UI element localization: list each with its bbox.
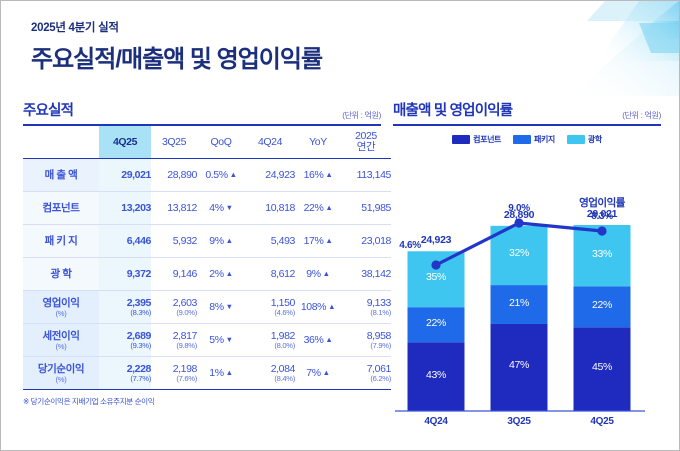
key-results-panel: 주요실적 (단위 : 억원) 4Q25 3Q25 QoQ 4Q24 YoY 20… <box>23 99 381 407</box>
table-row: 당기순이익(%)2,228(7.7%)2,198(7.6%)1%▲2,084(8… <box>23 356 391 389</box>
table-body: 매 출 액29,02128,8900.5%▲24,92316%▲113,145컴… <box>23 158 391 389</box>
arrow-up-icon: ▲ <box>226 269 233 278</box>
sub-value: (9.3%) <box>99 341 151 350</box>
sub-value: (9.8%) <box>151 341 197 350</box>
table-row: 매 출 액29,02128,8900.5%▲24,92316%▲113,145 <box>23 158 391 191</box>
sub-value: (7.9%) <box>341 341 391 350</box>
bar-segment-label: 47% <box>486 359 552 371</box>
cell-year: 113,145 <box>341 158 391 191</box>
bar-segment-label: 43% <box>403 369 469 381</box>
legend-swatch-icon <box>567 135 585 144</box>
header-kicker: 2025년 4분기 실적 <box>31 19 322 35</box>
cell-4q24: 2,084(8.4%) <box>245 356 295 389</box>
cell-qoq: 5%▼ <box>197 323 245 356</box>
bar-segment-label: 21% <box>486 297 552 309</box>
col-header-year-line2: 연간 <box>357 141 376 153</box>
line-point-label: 4.6% <box>384 240 436 251</box>
line-data-point <box>597 226 606 235</box>
bar-segment-label: 32% <box>486 247 552 259</box>
left-panel-unit: (단위 : 억원) <box>342 110 381 121</box>
cell-yoy: 16%▲ <box>295 158 341 191</box>
slide-root: 2025년 4분기 실적 주요실적/매출액 및 영업이익률 주요실적 (단위 :… <box>0 0 680 451</box>
arrow-up-icon: ▲ <box>325 236 332 245</box>
bar-segment-label: 22% <box>403 317 469 329</box>
cell-yoy: 108%▲ <box>295 290 341 323</box>
legend-label: 패키지 <box>534 134 555 145</box>
category-label: 4Q24 <box>403 416 469 427</box>
cell-yoy: 9%▲ <box>295 257 341 290</box>
cell-year: 8,958(7.9%) <box>341 323 391 356</box>
cell-4q25: 13,203 <box>99 191 151 224</box>
cell-year: 51,985 <box>341 191 391 224</box>
cell-yoy: 36%▲ <box>295 323 341 356</box>
cell-3q25: 28,890 <box>151 158 197 191</box>
cell-4q25: 6,446 <box>99 224 151 257</box>
table-header-row: 4Q25 3Q25 QoQ 4Q24 YoY 2025 연간 <box>23 126 391 158</box>
cell-4q24: 1,150(4.6%) <box>245 290 295 323</box>
cell-4q25: 2,228(7.7%) <box>99 356 151 389</box>
col-header-4q24[interactable]: 4Q24 <box>245 126 295 158</box>
table-row: 컴포넌트13,20313,8124%▼10,81822%▲51,985 <box>23 191 391 224</box>
cell-4q24: 5,493 <box>245 224 295 257</box>
arrow-up-icon: ▲ <box>328 302 335 311</box>
cell-4q25: 2,689(9.3%) <box>99 323 151 356</box>
table-header: 4Q25 3Q25 QoQ 4Q24 YoY 2025 연간 <box>23 126 391 158</box>
right-panel-title: 매출액 및 영업이익률 <box>393 99 512 120</box>
sub-value: (8.3%) <box>99 308 151 317</box>
legend-label: 컴포넌트 <box>473 134 501 145</box>
left-panel-title: 주요실적 <box>23 99 73 120</box>
sub-value: (4.6%) <box>245 308 295 317</box>
sub-value: (9.0%) <box>151 308 197 317</box>
cell-year: 7,061(6.2%) <box>341 356 391 389</box>
cell-qoq: 8%▼ <box>197 290 245 323</box>
operating-margin-caption: 영업이익률 <box>565 197 639 210</box>
legend-item[interactable]: 패키지 <box>513 134 555 145</box>
arrow-up-icon: ▲ <box>323 368 330 377</box>
cell-qoq: 4%▼ <box>197 191 245 224</box>
financial-table: 4Q25 3Q25 QoQ 4Q24 YoY 2025 연간 매 출 액29,0… <box>23 126 391 390</box>
cell-4q24: 1,982(8.0%) <box>245 323 295 356</box>
left-panel-head: 주요실적 (단위 : 억원) <box>23 99 381 123</box>
cell-yoy: 17%▲ <box>295 224 341 257</box>
bar-segment-label: 33% <box>569 248 635 260</box>
arrow-up-icon: ▲ <box>325 203 332 212</box>
arrow-up-icon: ▲ <box>323 269 330 278</box>
cell-4q25: 9,372 <box>99 257 151 290</box>
row-label: 세전이익(%) <box>23 323 99 356</box>
cell-year: 38,142 <box>341 257 391 290</box>
table-row: 패 키 지6,4465,9329%▲5,49317%▲23,018 <box>23 224 391 257</box>
cell-3q25: 2,603(9.0%) <box>151 290 197 323</box>
sub-value: (7.6%) <box>151 374 197 383</box>
row-label: 컴포넌트 <box>23 191 99 224</box>
legend-swatch-icon <box>452 135 470 144</box>
chart-legend: 컴포넌트패키지광학 <box>393 134 661 145</box>
cell-3q25: 5,932 <box>151 224 197 257</box>
arrow-up-icon: ▲ <box>325 170 332 179</box>
line-data-point <box>431 260 440 269</box>
cell-qoq: 0.5%▲ <box>197 158 245 191</box>
cell-3q25: 2,817(9.8%) <box>151 323 197 356</box>
cell-3q25: 13,812 <box>151 191 197 224</box>
cell-yoy: 22%▲ <box>295 191 341 224</box>
corner-decoration <box>509 1 679 96</box>
right-panel-divider <box>393 124 661 126</box>
arrow-down-icon: ▼ <box>226 302 233 311</box>
col-header-qoq[interactable]: QoQ <box>197 126 245 158</box>
page-title: 주요실적/매출액 및 영업이익률 <box>31 39 322 74</box>
legend-item[interactable]: 광학 <box>567 134 602 145</box>
cell-3q25: 9,146 <box>151 257 197 290</box>
table-row: 영업이익(%)2,395(8.3%)2,603(9.0%)8%▼1,150(4.… <box>23 290 391 323</box>
cell-4q24: 8,612 <box>245 257 295 290</box>
sub-value: (%) <box>23 375 99 384</box>
arrow-up-icon: ▲ <box>226 236 233 245</box>
cell-qoq: 9%▲ <box>197 224 245 257</box>
sub-value: (8.4%) <box>245 374 295 383</box>
category-label: 3Q25 <box>486 416 552 427</box>
legend-label: 광학 <box>588 134 602 145</box>
line-point-label: 8.3% <box>576 211 628 222</box>
row-label: 당기순이익(%) <box>23 356 99 389</box>
cell-4q25: 29,021 <box>99 158 151 191</box>
stacked-bar-chart: 43%22%35%24,9234Q2447%21%32%28,8903Q2545… <box>393 149 661 439</box>
sub-value: (%) <box>23 309 99 318</box>
line-point-label: 9.0% <box>493 203 545 214</box>
sub-value: (%) <box>23 342 99 351</box>
col-header-yoy[interactable]: YoY <box>295 126 341 158</box>
table-footnote: ※ 당기순이익은 지배기업 소유주지분 순이익 <box>23 396 381 407</box>
arrow-up-icon: ▲ <box>226 368 233 377</box>
col-header-3q25[interactable]: 3Q25 <box>151 126 197 158</box>
col-header-year[interactable]: 2025 연간 <box>341 126 391 158</box>
cell-year: 9,133(8.1%) <box>341 290 391 323</box>
bar-segment-label: 22% <box>569 299 635 311</box>
category-label: 4Q25 <box>569 416 635 427</box>
col-header-4q25[interactable]: 4Q25 <box>99 126 151 158</box>
arrow-up-icon: ▲ <box>230 170 237 179</box>
right-panel-unit: (단위 : 억원) <box>622 110 661 121</box>
bar-segment-label: 45% <box>569 361 635 373</box>
right-panel-head: 매출액 및 영업이익률 (단위 : 억원) <box>393 99 661 123</box>
arrow-down-icon: ▼ <box>226 335 233 344</box>
table-row: 광 학9,3729,1462%▲8,6129%▲38,142 <box>23 257 391 290</box>
cell-yoy: 7%▲ <box>295 356 341 389</box>
sub-value: (6.2%) <box>341 374 391 383</box>
table-row: 세전이익(%)2,689(9.3%)2,817(9.8%)5%▼1,982(8.… <box>23 323 391 356</box>
revenue-chart-panel: 매출액 및 영업이익률 (단위 : 억원) 컴포넌트패키지광학 43%22%35… <box>393 99 661 439</box>
cell-4q24: 10,818 <box>245 191 295 224</box>
row-label: 영업이익(%) <box>23 290 99 323</box>
chart-canvas <box>393 149 661 439</box>
cell-qoq: 2%▲ <box>197 257 245 290</box>
legend-swatch-icon <box>513 135 531 144</box>
cell-4q25: 2,395(8.3%) <box>99 290 151 323</box>
cell-3q25: 2,198(7.6%) <box>151 356 197 389</box>
sub-value: (8.0%) <box>245 341 295 350</box>
sub-value: (8.1%) <box>341 308 391 317</box>
row-label: 패 키 지 <box>23 224 99 257</box>
legend-item[interactable]: 컴포넌트 <box>452 134 501 145</box>
cell-4q24: 24,923 <box>245 158 295 191</box>
cell-qoq: 1%▲ <box>197 356 245 389</box>
row-label: 매 출 액 <box>23 158 99 191</box>
arrow-down-icon: ▼ <box>226 203 233 212</box>
slide-header: 2025년 4분기 실적 주요실적/매출액 및 영업이익률 <box>31 19 322 74</box>
row-label: 광 학 <box>23 257 99 290</box>
arrow-up-icon: ▲ <box>325 335 332 344</box>
col-header-blank <box>23 126 99 158</box>
bar-segment-label: 35% <box>403 271 469 283</box>
sub-value: (7.7%) <box>99 374 151 383</box>
